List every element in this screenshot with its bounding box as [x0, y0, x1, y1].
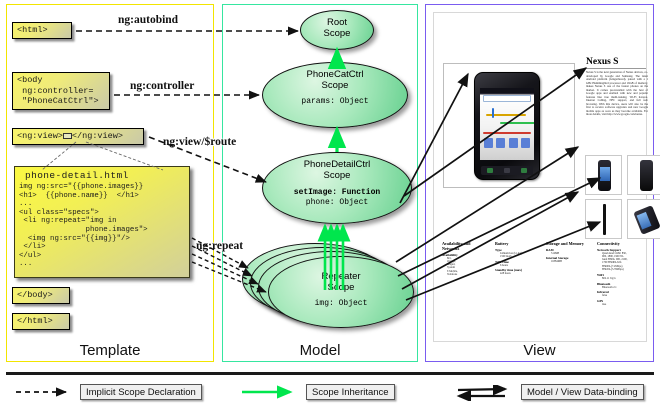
panel-template-label: Template	[7, 342, 213, 359]
phone-hero-frame	[443, 63, 575, 188]
screen-line-3	[483, 132, 531, 134]
phone-hero-image	[474, 72, 540, 180]
spec-value-talk-time: 6 hours	[495, 264, 541, 267]
spec-value-infrared: false	[597, 294, 643, 297]
phone-hardware-keys	[481, 166, 533, 175]
label-ng-repeat: ng:repeat	[196, 240, 243, 252]
spec-column-battery: Battery Type Lithium Ion (Li-Ion) 1500 m…	[495, 241, 541, 276]
label-ng-autobind: ng:autobind	[118, 14, 178, 26]
scope-phonecatctrl: PhoneCatCtrlScope params: Object	[262, 62, 408, 128]
spec-column-availability: Availability and Networks Availability M…	[442, 241, 488, 276]
thumbnail-phone-side[interactable]	[585, 199, 622, 239]
code-box-html-open: <html>	[12, 22, 72, 39]
status-bar	[480, 88, 534, 93]
rendered-view-page: Nexus S Nexus S is the next generation o…	[433, 12, 647, 342]
legend-label-implicit-scope: Implicit Scope Declaration	[80, 384, 202, 400]
spec-value-internal-storage: 16384MB	[546, 260, 592, 263]
code-box-body-open: <body ng:controller= "PhoneCatCtrl">	[12, 72, 110, 110]
scope-phonecatctrl-title: PhoneCatCtrlScope	[263, 63, 407, 91]
scope-repeater-title: RepeaterScope	[269, 257, 413, 293]
app-icon-row	[482, 138, 532, 150]
spec-heading-availability: Availability and Networks	[442, 241, 488, 251]
scope-root: RootScope	[300, 10, 374, 50]
legend-scope-inheritance: Scope Inheritance	[240, 384, 395, 400]
legend-label-scope-inheritance: Scope Inheritance	[306, 384, 395, 400]
scope-repeater: RepeaterScope img: Object	[268, 256, 414, 328]
spec-value-bluetooth: Bluetooth 2.1	[597, 286, 643, 289]
double-arrow-icon	[455, 385, 515, 399]
label-ng-view-route: ng:view/$route	[163, 136, 236, 148]
spec-column-connectivity: Connectivity Network Support Quad-band G…	[597, 241, 643, 306]
spec-value-gps: true	[597, 303, 643, 306]
spec-value-battery-type-2: 1500 mAh	[495, 255, 541, 258]
legend-implicit-scope: Implicit Scope Declaration	[14, 384, 202, 400]
spec-value-wifi: 802.11 b/g/n	[597, 277, 643, 280]
scope-root-title: RootScope	[301, 11, 373, 39]
code-box-ngview: <ng:view></ng:view>	[12, 128, 144, 145]
panel-model-label: Model	[223, 342, 417, 359]
spec-value-network-6: HSUPA (5.76Mbps)	[597, 268, 643, 271]
thumbnail-phone-angle[interactable]	[627, 199, 660, 239]
spec-column-storage: Storage and Memory RAM 512MB Internal St…	[546, 241, 592, 264]
screen-line-2	[500, 122, 534, 124]
spec-value-carrier-5: Vodafone	[442, 273, 488, 276]
spec-heading-connectivity: Connectivity	[597, 241, 643, 246]
view-phone-description: Nexus S is the next generation of Nexus …	[586, 71, 648, 117]
scope-phonedetailctrl: PhoneDetailCtrlScope setImage: Function …	[262, 152, 412, 224]
code-box-body-close: </body>	[12, 287, 70, 304]
view-phone-title: Nexus S	[586, 57, 646, 69]
ngview-open-tag: <ng:view>	[17, 131, 63, 141]
note-title: phone-detail.html	[15, 167, 189, 183]
note-phone-detail-html: phone-detail.html img ng:src="{{phone.im…	[14, 166, 190, 278]
scope-phonecatctrl-prop-params: params: Object	[263, 97, 407, 107]
code-box-html-close: </html>	[12, 313, 70, 330]
scope-phonedetailctrl-title: PhoneDetailCtrlScope	[263, 153, 411, 181]
legend-data-binding: Model / View Data-binding	[455, 384, 644, 400]
green-arrow-icon	[240, 385, 300, 399]
panel-view-label: View	[426, 342, 653, 359]
spec-heading-storage: Storage and Memory	[546, 241, 592, 246]
thumbnail-phone-back[interactable]	[627, 155, 660, 195]
spec-heading-battery: Battery	[495, 241, 541, 246]
thumb-back-icon	[640, 160, 653, 191]
legend-label-data-binding: Model / View Data-binding	[521, 384, 644, 400]
spec-value-standby: 428 hours	[495, 272, 541, 275]
scope-phonedetailctrl-prop-phone: phone: Object	[263, 198, 411, 208]
search-widget-icon	[483, 95, 531, 102]
spec-table: Availability and Networks Availability M…	[442, 241, 642, 311]
note-code: img ng:src="{{phone.images}} <h1> {{phon…	[15, 183, 189, 269]
ngview-slot-icon	[63, 133, 72, 139]
scope-repeater-prop-img: img: Object	[269, 299, 413, 309]
ngview-close-tag: </ng:view>	[72, 131, 123, 141]
diagram-canvas: Template Model View <html> <body ng:cont…	[0, 0, 660, 420]
thumbnail-phone-front[interactable]	[585, 155, 622, 195]
thumb-side-icon	[603, 204, 606, 235]
spec-value-ram: 512MB	[546, 252, 592, 255]
thumb-front-icon	[598, 160, 611, 191]
thumb-angle-icon	[633, 205, 660, 235]
label-ng-controller: ng:controller	[130, 80, 194, 92]
screen-line-4	[492, 108, 494, 118]
scope-phonedetailctrl-prop-setimage: setImage: Function	[263, 188, 411, 198]
phone-screen	[480, 88, 534, 160]
legend-divider	[6, 372, 654, 375]
dashed-arrow-icon	[14, 385, 74, 399]
